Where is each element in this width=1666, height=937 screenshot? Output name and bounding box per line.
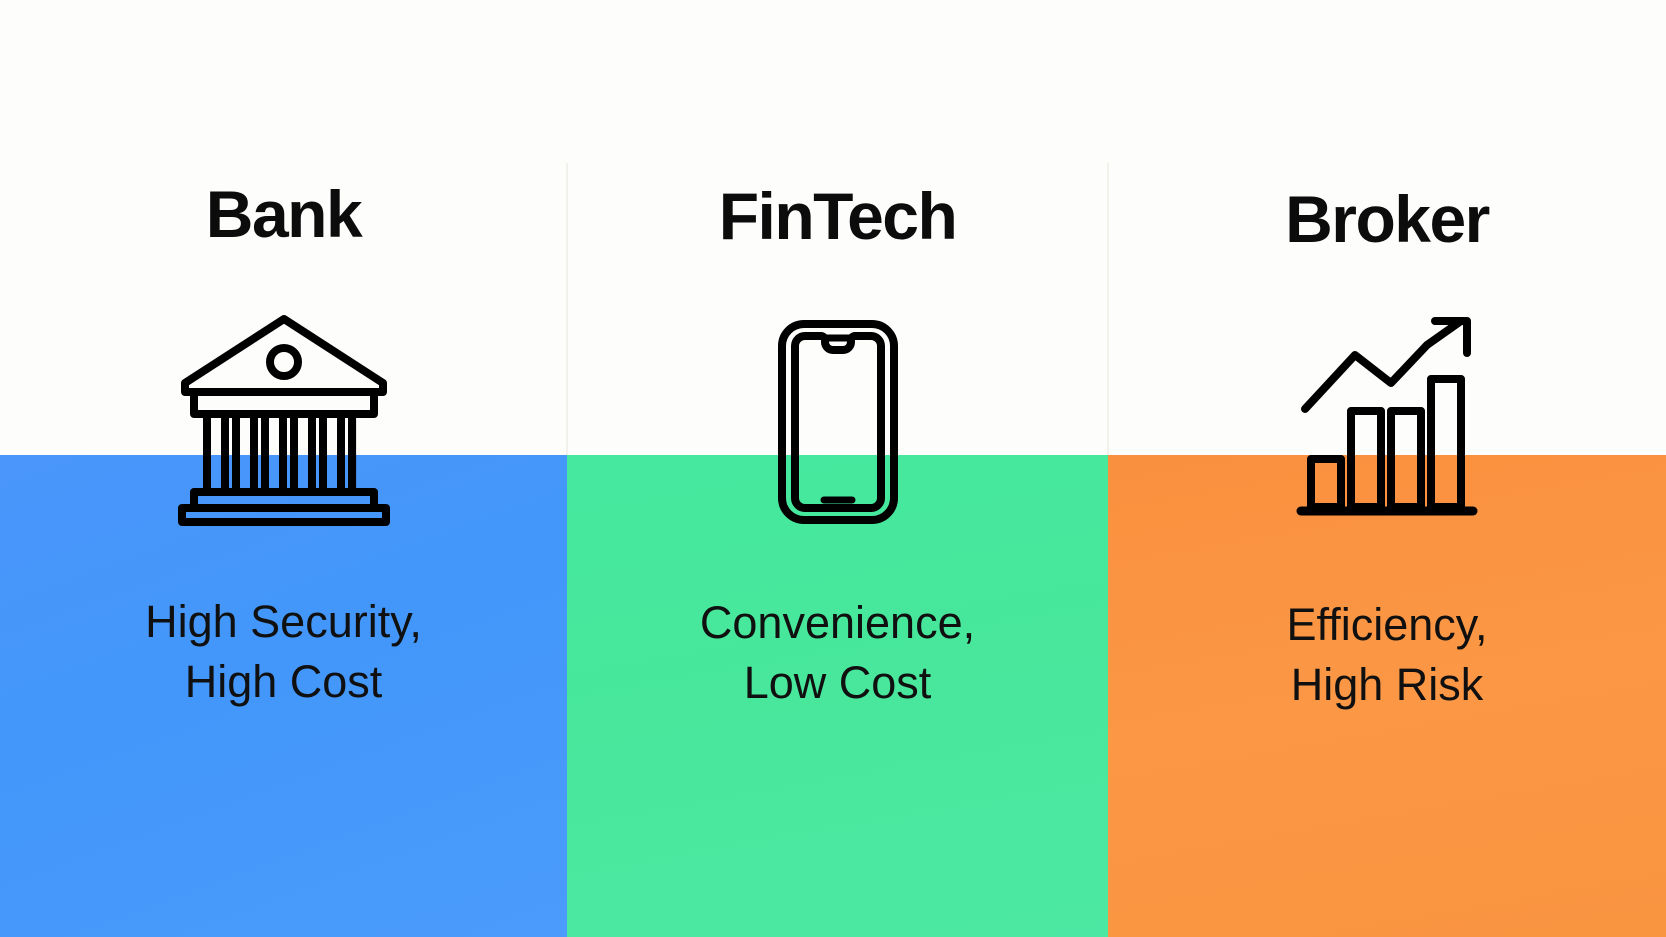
column-broker: Broker Efficiency, Hig: [1108, 0, 1666, 937]
column-caption-broker: Efficiency, High Risk: [1108, 595, 1666, 715]
caption-line-1: High Security,: [0, 592, 567, 652]
column-caption-bank: High Security, High Cost: [0, 592, 567, 712]
column-title-bank: Bank: [0, 176, 567, 252]
infographic-canvas: Bank: [0, 0, 1666, 937]
bank-building-icon: [0, 312, 567, 527]
column-title-broker: Broker: [1108, 181, 1666, 257]
bar-chart-growth-arrow-icon: [1108, 316, 1666, 521]
column-fintech: FinTech Convenience, Low Cost: [567, 0, 1108, 937]
caption-line-1: Convenience,: [567, 593, 1108, 653]
columns-container: Bank: [0, 0, 1666, 937]
caption-line-1: Efficiency,: [1108, 595, 1666, 655]
smartphone-icon: [567, 316, 1108, 524]
column-bank: Bank: [0, 0, 567, 937]
caption-line-2: High Risk: [1108, 655, 1666, 715]
column-caption-fintech: Convenience, Low Cost: [567, 593, 1108, 713]
column-title-fintech: FinTech: [567, 178, 1108, 254]
caption-line-2: Low Cost: [567, 653, 1108, 713]
caption-line-2: High Cost: [0, 652, 567, 712]
